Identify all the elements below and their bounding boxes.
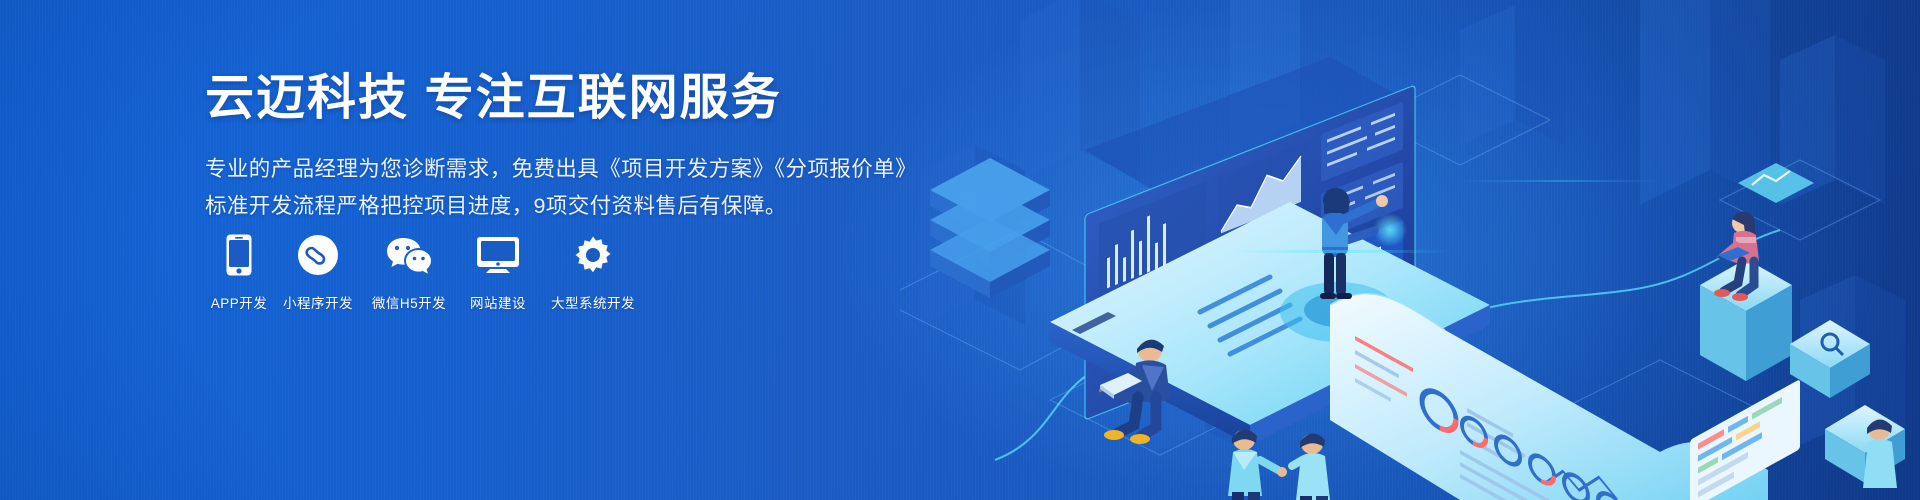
hero-banner: 云迈科技 专注互联网服务 专业的产品经理为您诊断需求，免费出具《项目开发方案》《… [0, 0, 1920, 500]
flow-path [995, 230, 1780, 460]
mini-program-icon [298, 232, 338, 278]
standing-person [1320, 188, 1388, 299]
subtitle-line-1: 专业的产品经理为您诊断需求，免费出具《项目开发方案》《分项报价单》 [205, 151, 965, 188]
dashboard-screen [1085, 57, 1415, 420]
hero-subtitle: 专业的产品经理为您诊断需求，免费出具《项目开发方案》《分项报价单》 标准开发流程… [205, 151, 965, 225]
mobile-phone-icon [226, 232, 252, 278]
hero-content: 云迈科技 专注互联网服务 专业的产品经理为您诊断需求，免费出具《项目开发方案》《… [205, 68, 965, 225]
data-ribbon [1330, 294, 1768, 500]
service-item-miniprogram[interactable]: 小程序开发 [273, 232, 363, 312]
service-item-app[interactable]: APP开发 [205, 232, 273, 312]
connector-lines [900, 75, 1880, 480]
page-title: 云迈科技 专注互联网服务 [205, 68, 965, 129]
woman-on-cube-laptop [1700, 163, 1814, 381]
code-card [1690, 379, 1800, 500]
touch-glow [1373, 213, 1407, 247]
service-label-wechat-h5: 微信H5开发 [372, 292, 446, 312]
gear-icon [573, 232, 613, 278]
icon-cubes [1790, 320, 1905, 483]
monitor-icon [476, 232, 520, 278]
service-list: APP开发 小程序开发 微信 [205, 232, 645, 312]
people-group-bottom [1228, 429, 1330, 500]
seated-person-laptop [1100, 340, 1170, 444]
service-item-website[interactable]: 网站建设 [455, 232, 541, 312]
service-label-app: APP开发 [211, 292, 268, 312]
wechat-icon [386, 232, 432, 278]
tablet-platform [1050, 202, 1490, 445]
service-label-website: 网站建设 [470, 292, 526, 312]
hero-illustration [900, 0, 1920, 500]
service-item-wechat-h5[interactable]: 微信H5开发 [363, 232, 455, 312]
service-item-large-system[interactable]: 大型系统开发 [541, 232, 645, 312]
subtitle-line-2: 标准开发流程严格把控项目进度，9项交付资料售后有保障。 [205, 188, 965, 225]
person-right-edge [1863, 419, 1897, 488]
service-label-large-system: 大型系统开发 [551, 292, 635, 312]
service-label-miniprogram: 小程序开发 [283, 292, 353, 312]
city-blocks [920, 0, 1905, 455]
